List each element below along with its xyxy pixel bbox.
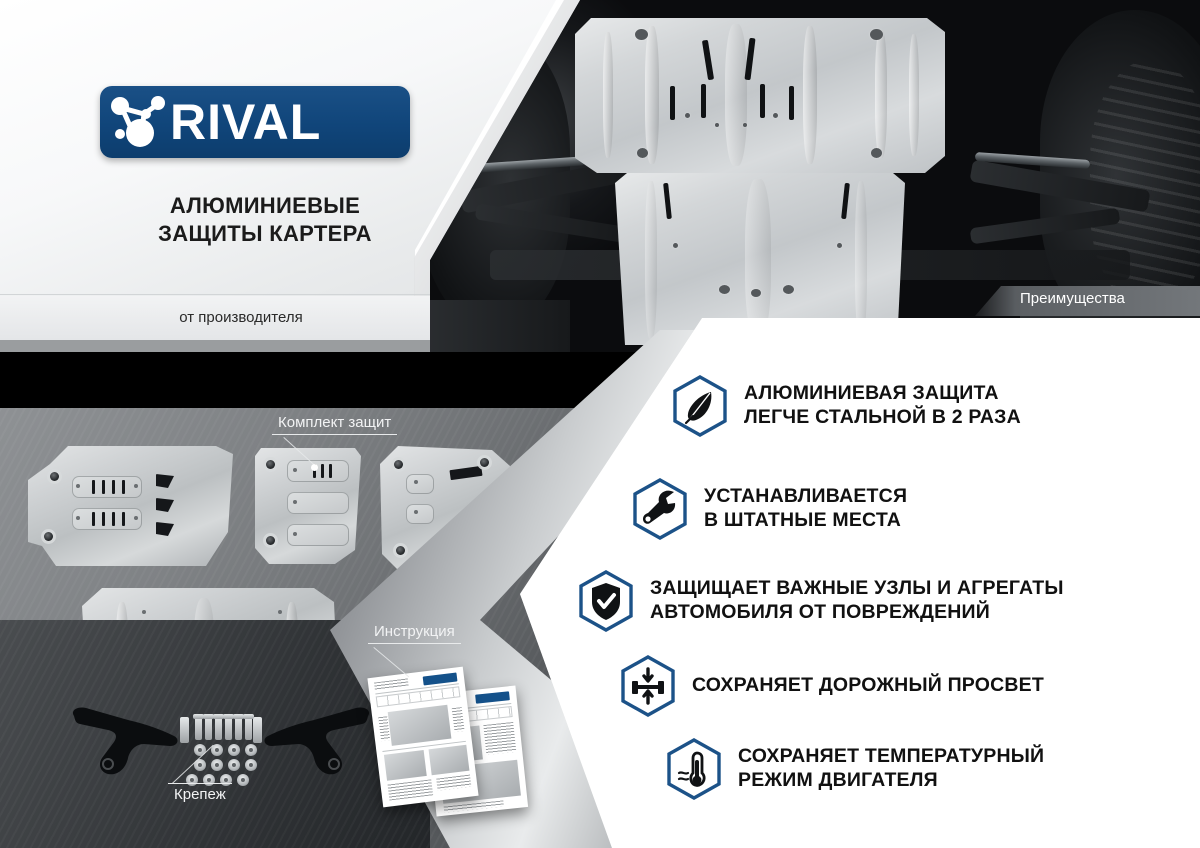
instruction-sheet-front bbox=[367, 667, 478, 808]
feature-item-clearance: СОХРАНЯЕТ ДОРОЖНЫЙ ПРОСВЕТ bbox=[620, 655, 1044, 717]
page-title: АЛЮМИНИЕВЫЕ ЗАЩИТЫ КАРТЕРА bbox=[100, 192, 430, 248]
callout-instruction-label: Инструкция bbox=[368, 623, 461, 643]
callout-instruction-rule bbox=[368, 643, 461, 644]
callout-kit-label: Комплект защит bbox=[272, 414, 397, 434]
feature-item-protection-label: ЗАЩИЩАЕТ ВАЖНЫЕ УЗЛЫ И АГРЕГАТЫ АВТОМОБИ… bbox=[650, 577, 1064, 625]
feature-item-clearance-label: СОХРАНЯЕТ ДОРОЖНЫЙ ПРОСВЕТ bbox=[692, 674, 1044, 698]
callout-kit: Комплект защит bbox=[272, 414, 397, 435]
rival-logo[interactable]: RIVAL bbox=[100, 86, 410, 158]
feature-item-protection: ЗАЩИЩАЕТ ВАЖНЫЕ УЗЛЫ И АГРЕГАТЫ АВТОМОБИ… bbox=[578, 570, 1064, 632]
wrench-icon bbox=[632, 478, 688, 540]
callout-fasteners: Крепеж bbox=[168, 783, 232, 806]
rival-wordmark: RIVAL bbox=[170, 97, 321, 147]
feature-item-temperature-label: СОХРАНЯЕТ ТЕМПЕРАТУРНЫЙ РЕЖИМ ДВИГАТЕЛЯ bbox=[738, 745, 1044, 793]
feature-item-weight: АЛЮМИНИЕВАЯ ЗАЩИТА ЛЕГЧЕ СТАЛЬНОЙ В 2 РА… bbox=[672, 375, 1021, 437]
advantages-ribbon: Преимущества bbox=[975, 286, 1200, 316]
leaf-icon bbox=[672, 375, 728, 437]
header-divider-line bbox=[0, 294, 432, 295]
callout-fasteners-rule bbox=[168, 783, 232, 784]
thermometer-icon bbox=[666, 738, 722, 800]
page-subtitle: от производителя bbox=[76, 299, 406, 337]
feature-item-temperature: СОХРАНЯЕТ ТЕМПЕРАТУРНЫЙ РЕЖИМ ДВИГАТЕЛЯ bbox=[666, 738, 1044, 800]
shield-check-icon bbox=[578, 570, 634, 632]
feature-item-fitment-label: УСТАНАВЛИВАЕТСЯ В ШТАТНЫЕ МЕСТА bbox=[704, 485, 907, 533]
molecule-icon bbox=[100, 86, 174, 158]
poster-canvas: Комплект защит Инструкция Крепеж bbox=[0, 0, 1200, 848]
clearance-icon bbox=[620, 655, 676, 717]
feature-item-fitment: УСТАНАВЛИВАЕТСЯ В ШТАТНЫЕ МЕСТА bbox=[632, 478, 907, 540]
callout-instruction: Инструкция bbox=[368, 623, 461, 644]
callout-fasteners-label: Крепеж bbox=[168, 786, 232, 806]
callout-kit-rule bbox=[272, 434, 397, 435]
sheet-logo-icon bbox=[475, 691, 510, 704]
advantages-ribbon-label: Преимущества bbox=[1020, 290, 1125, 307]
feature-item-weight-label: АЛЮМИНИЕВАЯ ЗАЩИТА ЛЕГЧЕ СТАЛЬНОЙ В 2 РА… bbox=[744, 382, 1021, 430]
callout-kit-dot bbox=[311, 464, 318, 471]
